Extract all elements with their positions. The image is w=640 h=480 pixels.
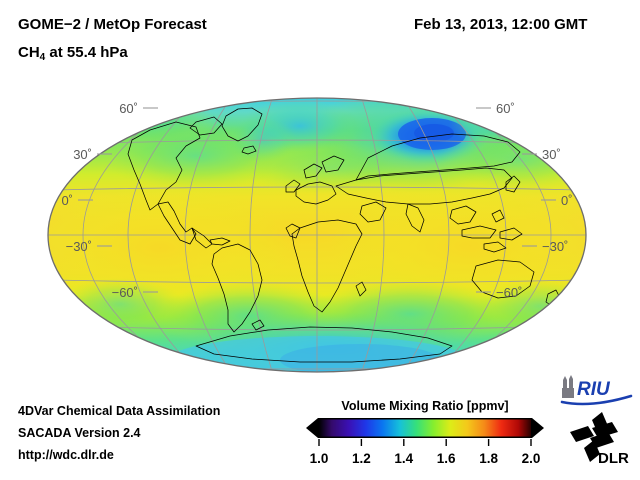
riu-logo: RIU xyxy=(557,374,637,408)
colorbar-title: Volume Mixing Ratio [ppmv] xyxy=(305,399,545,413)
lat-label-right-60n: 60˚ xyxy=(496,101,515,116)
colorbar-tick-label: 1.4 xyxy=(394,451,413,466)
species-altitude-label: CH4 at 55.4 hPa xyxy=(18,44,128,63)
colorbar-tick-label: 1.2 xyxy=(352,451,371,466)
colorbar-arrow-left xyxy=(308,419,318,437)
version-label: SACADA Version 2.4 xyxy=(18,426,141,440)
colorbar-tick-label: 2.0 xyxy=(522,451,541,466)
species-suffix: at 55.4 hPa xyxy=(45,44,128,61)
colorbar-tick-label: 1.6 xyxy=(437,451,456,466)
colorbar-scale: 1.01.21.41.61.82.0 xyxy=(305,417,545,473)
dlr-wordmark: DLR xyxy=(598,450,629,467)
riu-wordmark: RIU xyxy=(577,379,611,400)
lat-label-left-60s: −60˚ xyxy=(112,285,138,300)
colorbar: Volume Mixing Ratio [ppmv] 1.01.21.41.61… xyxy=(305,395,545,475)
forecast-datetime: Feb 13, 2013, 12:00 GMT xyxy=(414,16,587,33)
colorbar-tick-labels: 1.01.21.41.61.82.0 xyxy=(310,451,541,466)
mollweide-map: 60˚ 30˚ 0˚ −30˚ −60˚ 60˚ 30˚ 0˚ −30˚ −60… xyxy=(0,78,640,388)
lat-label-right-30n: 30˚ xyxy=(542,147,561,162)
cathedral-icon xyxy=(562,375,574,398)
page-title: GOME−2 / MetOp Forecast xyxy=(18,16,207,33)
dlr-logo: DLR xyxy=(568,410,640,468)
colorbar-tick-label: 1.8 xyxy=(479,451,498,466)
species-prefix: CH xyxy=(18,44,40,61)
ch4-field xyxy=(20,88,610,384)
colorbar-tick-label: 1.0 xyxy=(310,451,329,466)
colorbar-arrow-right xyxy=(532,419,542,437)
lat-label-right-60s: −60˚ xyxy=(496,285,522,300)
website-link[interactable]: http://wdc.dlr.de xyxy=(18,448,114,462)
colorbar-ticks xyxy=(319,439,531,446)
lat-label-right-30s: −30˚ xyxy=(542,239,568,254)
lat-label-right-0: 0˚ xyxy=(561,193,573,208)
lat-label-left-0: 0˚ xyxy=(61,193,73,208)
lat-label-left-30n: 30˚ xyxy=(73,147,92,162)
map-panel: 60˚ 30˚ 0˚ −30˚ −60˚ 60˚ 30˚ 0˚ −30˚ −60… xyxy=(0,78,640,388)
lat-label-left-60n: 60˚ xyxy=(119,101,138,116)
header: GOME−2 / MetOp Forecast CH4 at 55.4 hPa … xyxy=(0,0,640,80)
colorbar-gradient xyxy=(319,420,531,437)
lat-label-left-30s: −30˚ xyxy=(66,239,92,254)
method-label: 4DVar Chemical Data Assimilation xyxy=(18,404,220,418)
